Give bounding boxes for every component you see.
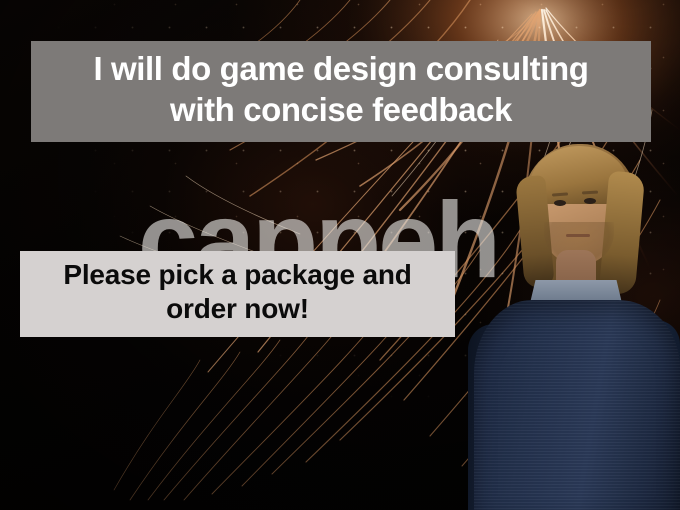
gig-thumbnail-image: cappeh I will do game design consulting … (0, 0, 680, 510)
eye-right (584, 198, 596, 204)
headline-banner: I will do game design consulting with co… (31, 41, 651, 142)
headline-line-1: I will do game design consulting (93, 49, 588, 89)
mouth (566, 234, 590, 237)
sweater-torso (474, 300, 680, 510)
cta-line-2: order now! (166, 292, 309, 326)
cta-banner: Please pick a package and order now! (20, 251, 455, 337)
headline-line-2: with concise feedback (170, 90, 512, 130)
eye-left (554, 200, 566, 206)
cta-line-1: Please pick a package and (63, 258, 411, 292)
person-photo (468, 138, 680, 510)
